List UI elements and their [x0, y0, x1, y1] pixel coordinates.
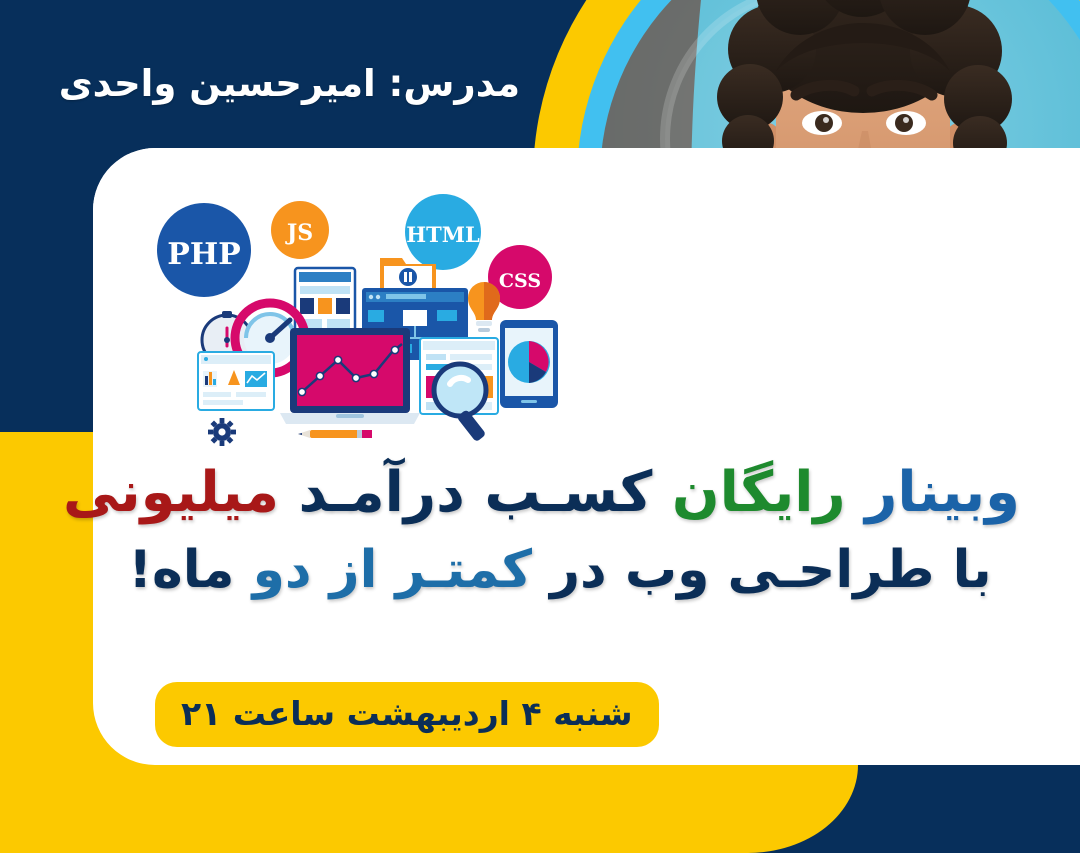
svg-text:HTML: HTML: [406, 222, 480, 247]
gear-icon: [208, 418, 236, 446]
headline-word-income: کسـب درآمـد: [299, 460, 653, 525]
headline-word-lessthan: کمتـر از دو: [253, 540, 532, 600]
headline-line-1: وبینار رایگان کسـب درآمـد میلیونی: [100, 462, 1020, 525]
headline-word-webinar: وبینار: [865, 460, 1020, 525]
lightbulb-icon: [468, 282, 500, 332]
headline-word-webdesign: با طراحـی وب: [625, 540, 992, 600]
web-development-illustration: PHP JS HTML CSS: [150, 180, 570, 450]
tablet-with-pie-chart: [500, 320, 558, 408]
footer-yellow-strip: [0, 765, 858, 853]
date-time-badge: شنبه ۴ اردیبهشت ساعت ۲۱: [155, 682, 659, 747]
svg-text:JS: JS: [285, 220, 313, 246]
svg-text:PHP: PHP: [167, 237, 240, 272]
magnifier-icon: [434, 364, 486, 442]
headline-block: وبینار رایگان کسـب درآمـد میلیونی با طرا…: [100, 462, 1020, 599]
pencil-icon: [298, 430, 372, 438]
headline-word-free: رایگان: [672, 460, 846, 525]
headline-word-months: ماه!: [128, 540, 234, 600]
svg-text:CSS: CSS: [499, 270, 541, 292]
instructor-label: مدرس: امیرحسین واحدی: [59, 62, 520, 105]
dashboard-card-left: [198, 352, 274, 410]
headline-word-millions: میلیونی: [63, 460, 279, 525]
headline-word-in: در: [550, 540, 607, 600]
laptop-with-line-chart: [280, 328, 420, 424]
webinar-poster: مدرس: امیرحسین واحدی PHP JS HTML CSS: [0, 0, 1080, 853]
headline-line-2: با طراحـی وب در کمتـر از دو ماه!: [100, 541, 1020, 599]
